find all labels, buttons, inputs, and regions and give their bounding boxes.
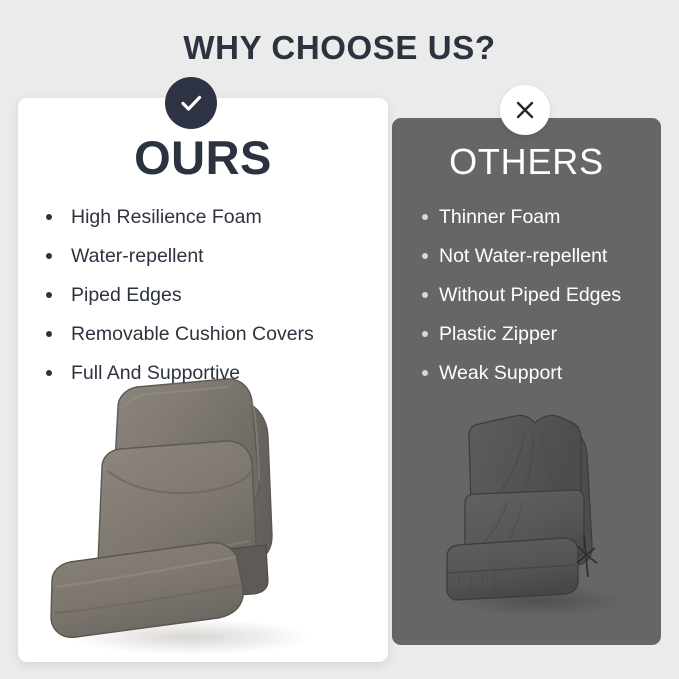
check-icon xyxy=(177,89,205,117)
ours-feature-label: Water-repellent xyxy=(71,244,204,268)
others-feature-label: Not Water-repellent xyxy=(439,244,607,268)
list-item: Not Water-repellent xyxy=(420,236,658,275)
others-feature-label: Plastic Zipper xyxy=(439,322,557,346)
list-item: High Resilience Foam xyxy=(44,197,374,236)
ours-feature-label: Removable Cushion Covers xyxy=(71,322,314,346)
bullet-icon xyxy=(422,331,428,337)
page-title: WHY CHOOSE US? xyxy=(0,28,679,68)
others-feature-list: Thinner Foam Not Water-repellent Without… xyxy=(420,197,658,392)
others-feature-label: Weak Support xyxy=(439,361,562,385)
bullet-icon xyxy=(46,253,52,259)
list-item: Water-repellent xyxy=(44,236,374,275)
others-product-image xyxy=(445,395,645,620)
bullet-icon xyxy=(46,331,52,337)
bullet-icon xyxy=(422,253,428,259)
list-item: Piped Edges xyxy=(44,275,374,314)
ours-heading: OURS xyxy=(18,131,388,185)
ours-feature-label: Full And Supportive xyxy=(71,361,240,385)
list-item: Without Piped Edges xyxy=(420,275,658,314)
ours-feature-label: High Resilience Foam xyxy=(71,205,262,229)
bullet-icon xyxy=(46,214,52,220)
others-cross-badge xyxy=(500,85,550,135)
others-feature-label: Thinner Foam xyxy=(439,205,560,229)
ours-feature-label: Piped Edges xyxy=(71,283,182,307)
bullet-icon xyxy=(46,292,52,298)
bullet-icon xyxy=(422,214,428,220)
list-item: Full And Supportive xyxy=(44,353,374,392)
ours-feature-list: High Resilience Foam Water-repellent Pip… xyxy=(44,197,374,392)
list-item: Plastic Zipper xyxy=(420,314,658,353)
bullet-icon xyxy=(422,292,428,298)
comparison-infographic: WHY CHOOSE US? xyxy=(0,0,679,679)
ours-check-badge xyxy=(165,77,217,129)
others-heading: OTHERS xyxy=(392,141,661,183)
list-item: Removable Cushion Covers xyxy=(44,314,374,353)
others-feature-label: Without Piped Edges xyxy=(439,283,621,307)
list-item: Thinner Foam xyxy=(420,197,658,236)
bullet-icon xyxy=(422,370,428,376)
bullet-icon xyxy=(46,370,52,376)
list-item: Weak Support xyxy=(420,353,658,392)
ours-product-image xyxy=(40,375,340,660)
close-icon xyxy=(513,98,537,122)
